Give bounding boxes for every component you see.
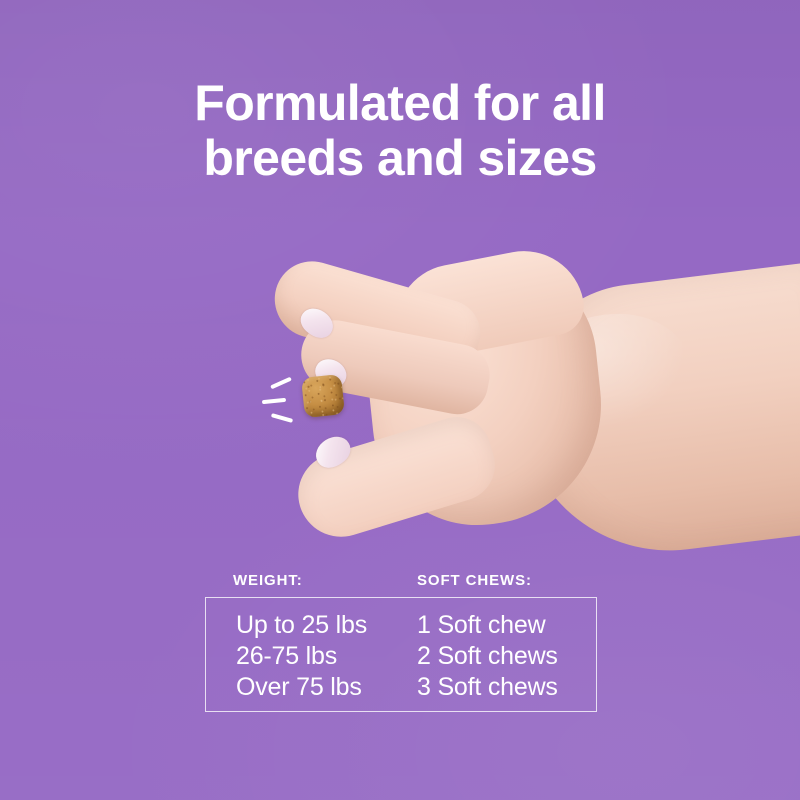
- table-row: Over 75 lbs 3 Soft chews: [236, 672, 596, 703]
- column-header-soft-chews: SOFT CHEWS:: [417, 572, 597, 589]
- cell-chews: 2 Soft chews: [417, 641, 596, 671]
- soft-chew: [301, 374, 345, 418]
- cell-weight: Up to 25 lbs: [236, 610, 417, 640]
- cell-chews: 3 Soft chews: [417, 672, 596, 702]
- table-row: 26-75 lbs 2 Soft chews: [236, 641, 596, 672]
- dosage-table-body: Up to 25 lbs 1 Soft chew 26-75 lbs 2 Sof…: [205, 597, 597, 712]
- cell-chews: 1 Soft chew: [417, 610, 596, 640]
- dosage-table: WEIGHT: SOFT CHEWS: Up to 25 lbs 1 Soft …: [205, 572, 597, 712]
- column-header-weight: WEIGHT:: [233, 572, 417, 589]
- dosage-table-header: WEIGHT: SOFT CHEWS:: [205, 572, 597, 597]
- page-title: Formulated for all breeds and sizes: [0, 76, 800, 186]
- product-info-poster: Formulated for all breeds and sizes WEIG…: [0, 0, 800, 800]
- cell-weight: Over 75 lbs: [236, 672, 417, 702]
- table-row: Up to 25 lbs 1 Soft chew: [236, 610, 596, 641]
- product-photo: [0, 240, 800, 550]
- cell-weight: 26-75 lbs: [236, 641, 417, 671]
